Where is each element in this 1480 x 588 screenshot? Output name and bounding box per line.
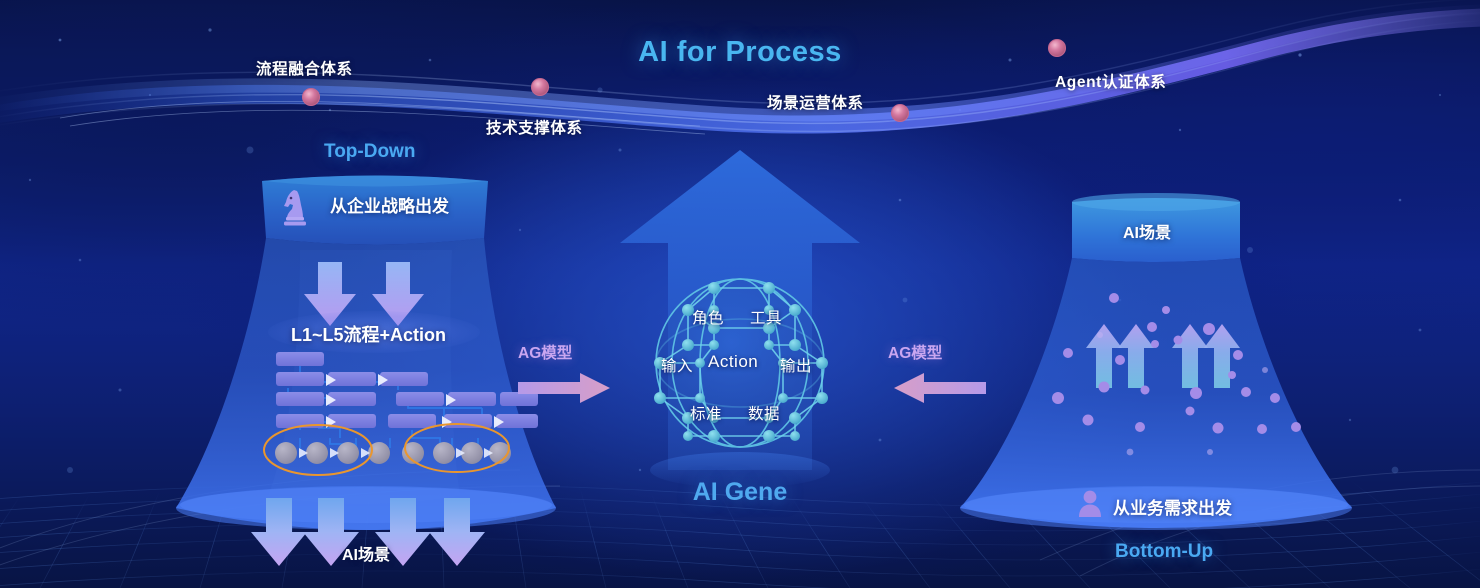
right-funnel-bottom-label: 从业务需求出发 (1113, 494, 1232, 519)
bottom-up-caption: Bottom-Up (1115, 541, 1213, 563)
infographic-canvas: AI for Process 流程融合体系 技术支撑体系 场景运营体系 Agen… (0, 0, 1480, 588)
right-funnel-graphic (0, 0, 1480, 588)
person-icon (1077, 489, 1103, 517)
right-funnel-top-label: AI场景 (1123, 219, 1171, 243)
